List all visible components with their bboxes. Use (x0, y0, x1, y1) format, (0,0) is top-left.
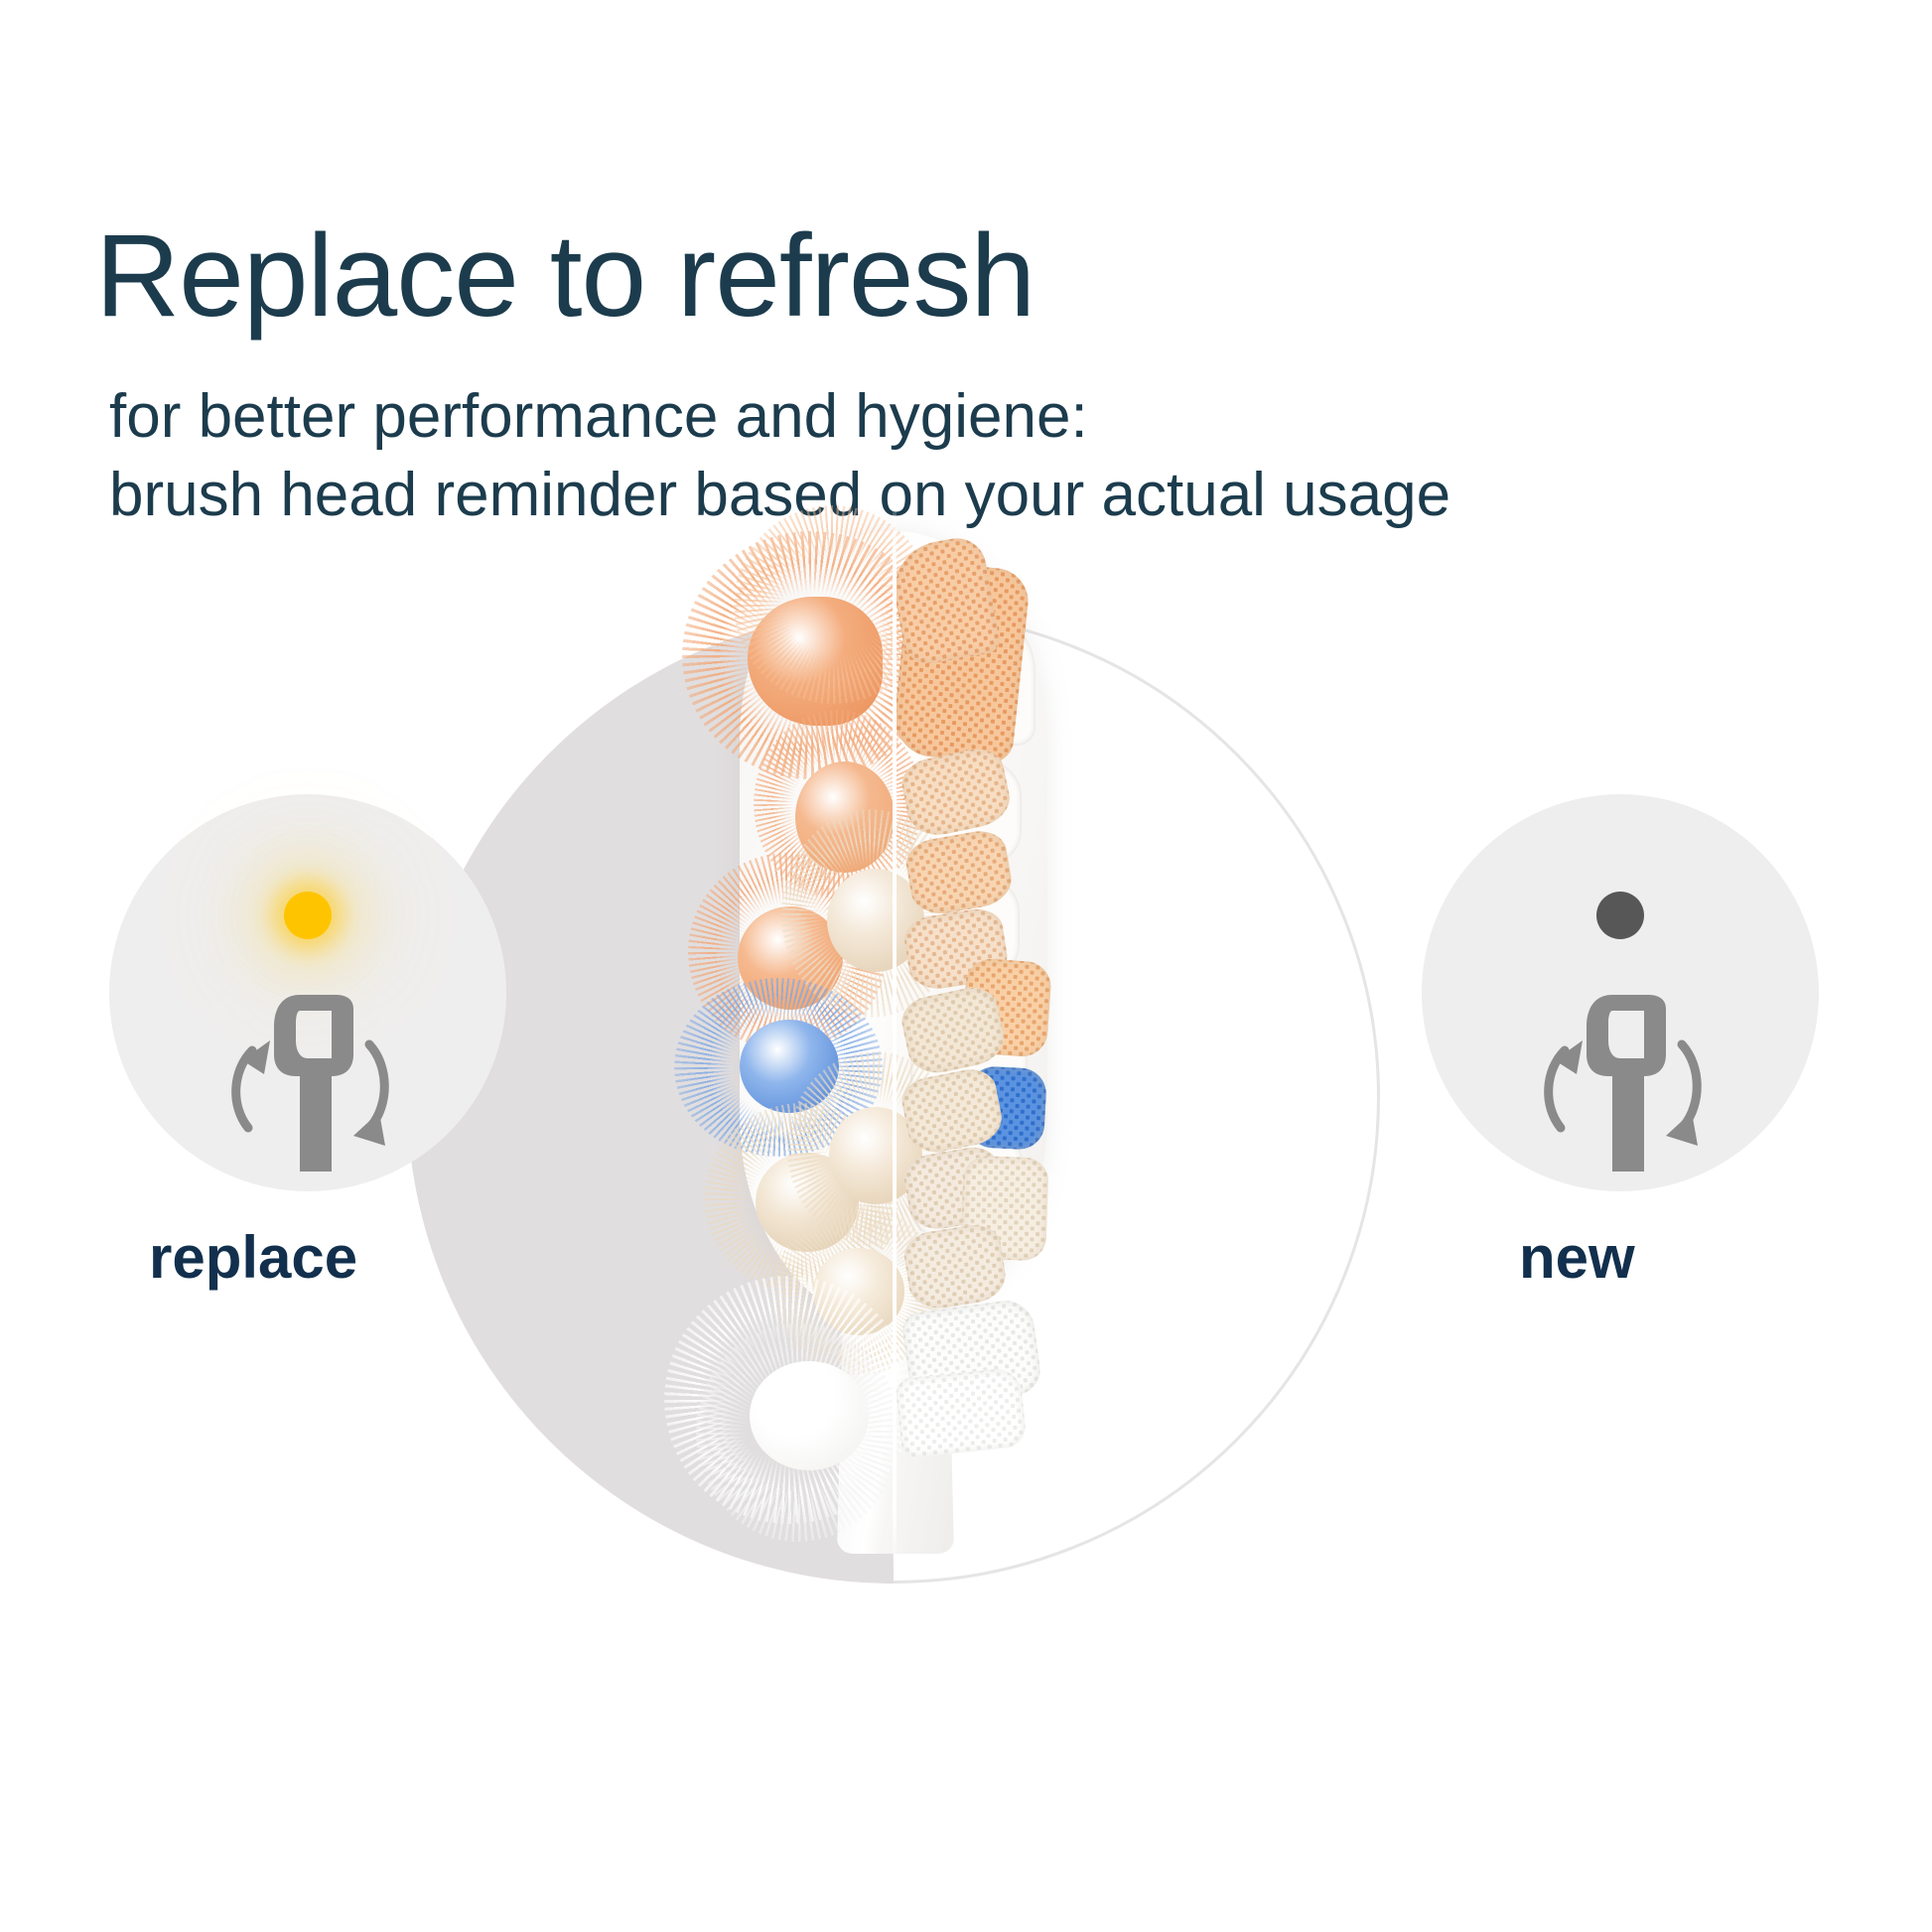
grey-led-indicator (1596, 892, 1644, 939)
brush-head-replace-icon (1517, 989, 1724, 1177)
new-bristle-tuft (901, 1221, 1010, 1312)
replace-badge (109, 794, 506, 1191)
replace-label: replace (149, 1223, 357, 1292)
comparison-split-seam (893, 501, 897, 1569)
subtitle-line-1: for better performance and hygiene: (109, 382, 1088, 451)
worn-white-bristle-tuft-core (750, 1361, 869, 1470)
brush-head-replace-icon (205, 989, 411, 1177)
new-label: new (1519, 1223, 1635, 1292)
brush-head-comparison-scene: replace new (0, 596, 1932, 1916)
new-white-bristle-tuft (895, 1367, 1028, 1459)
amber-led-indicator (284, 892, 332, 939)
new-badge (1422, 794, 1819, 1191)
product-feature-banner: Replace to refresh for better performanc… (0, 0, 1932, 1932)
brush-head-illustration (730, 511, 1057, 1564)
page-title: Replace to refresh (95, 217, 1035, 335)
